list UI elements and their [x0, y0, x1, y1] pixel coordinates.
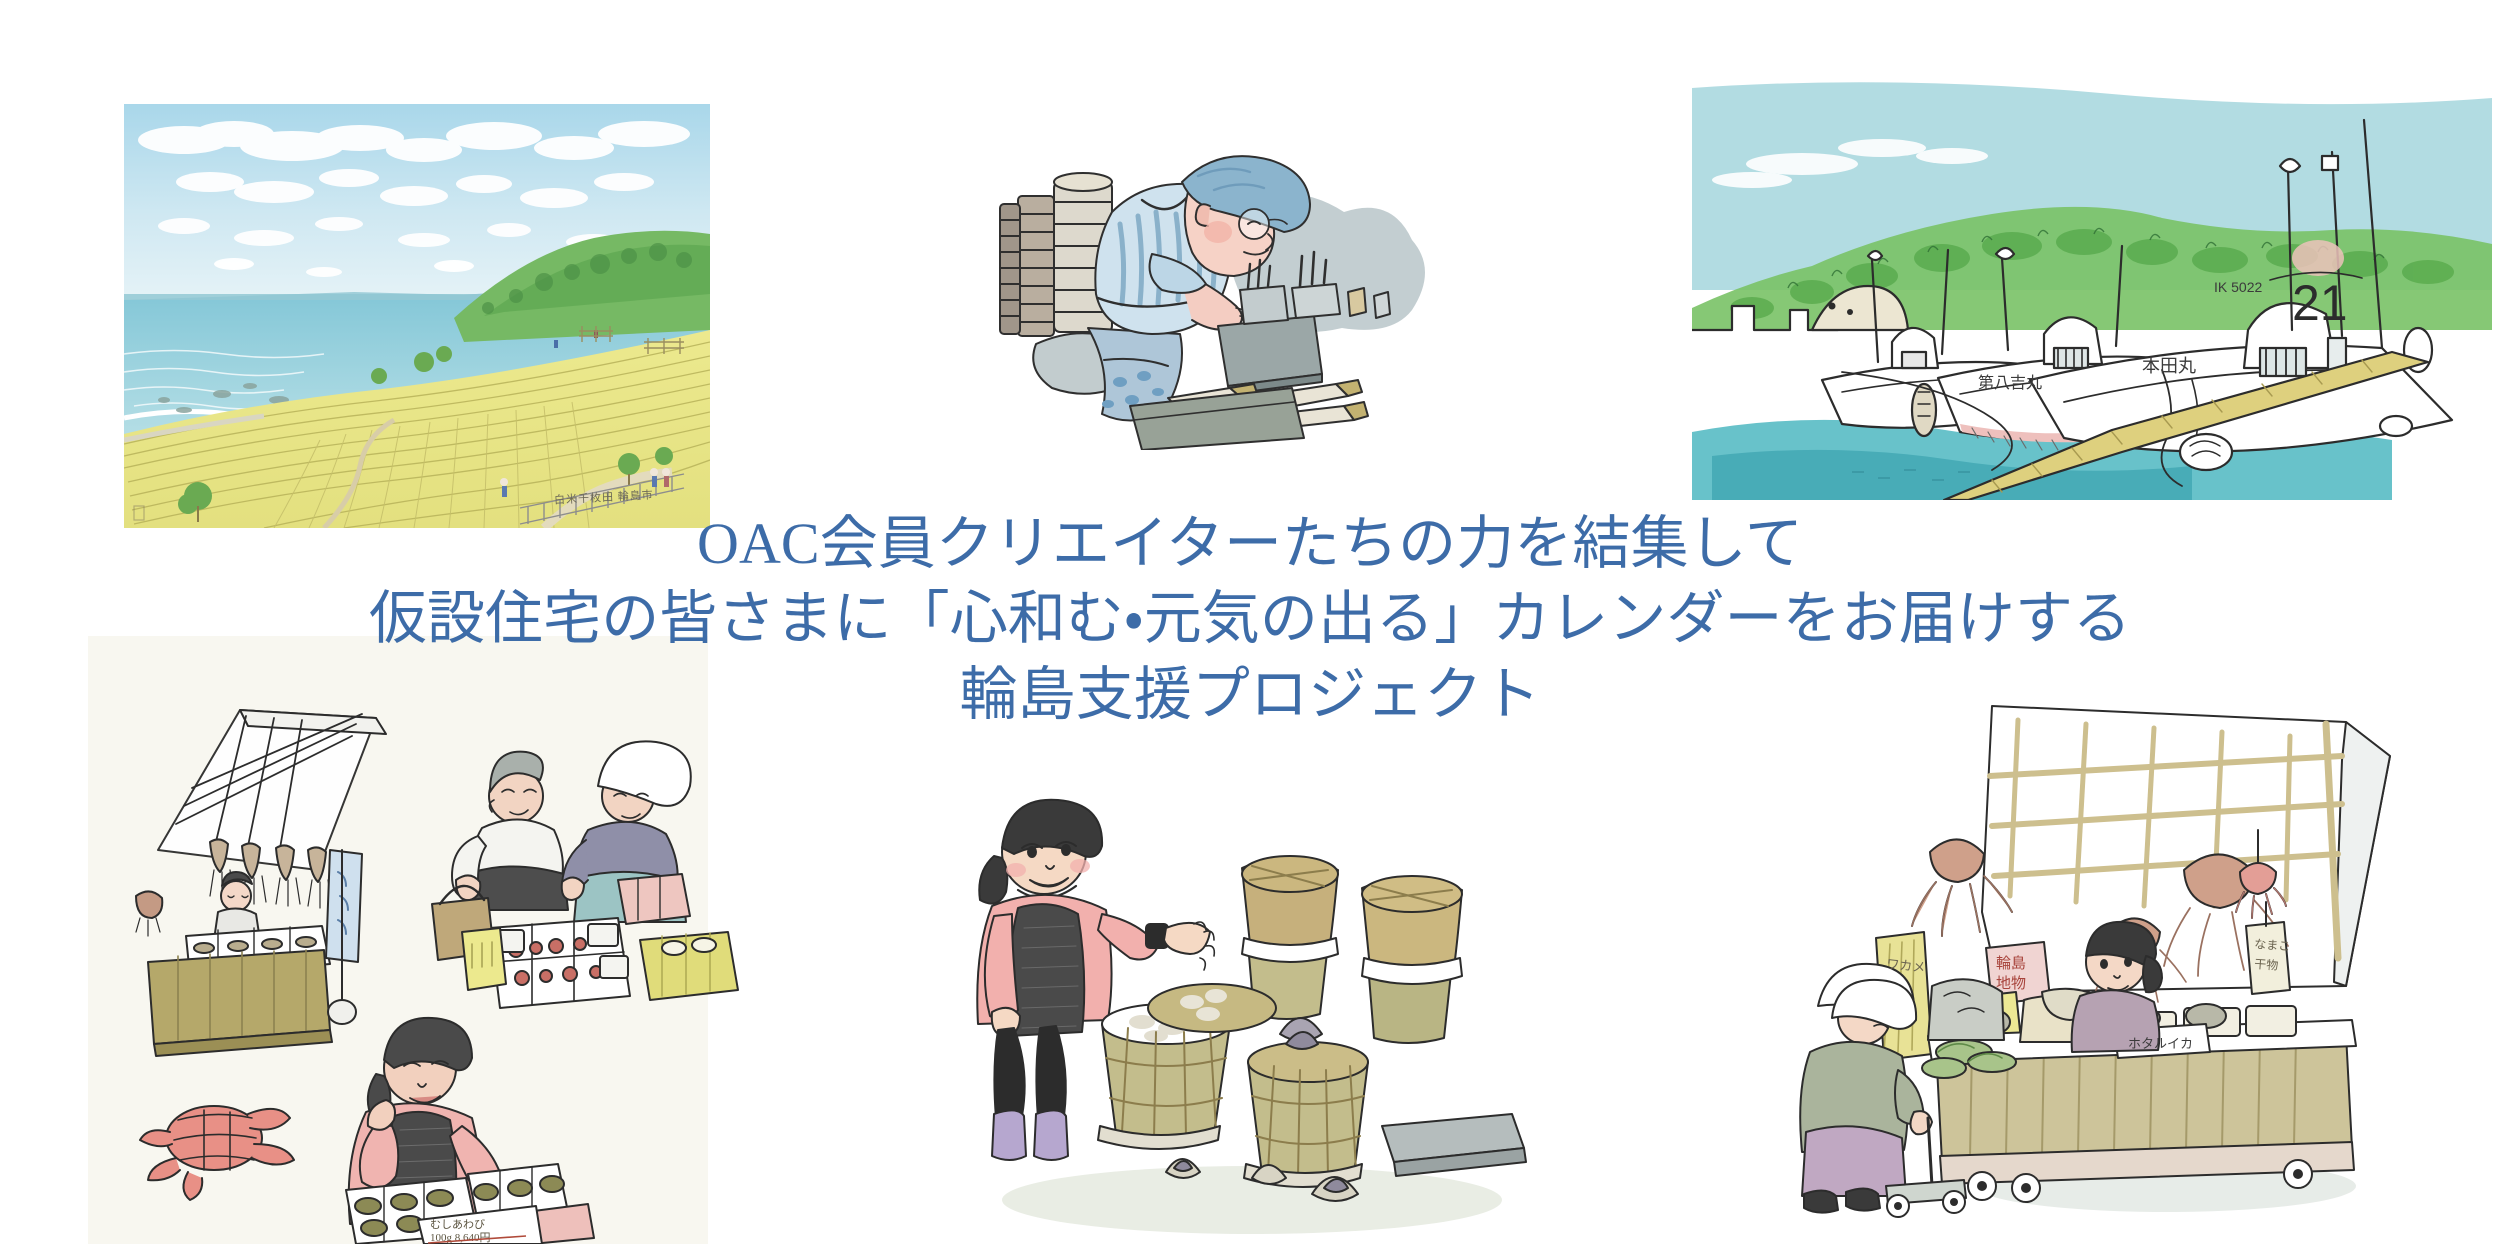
headline-line-1: OAC会員クリエイターたちの力を結集して	[0, 506, 2500, 581]
svg-text:なまこ: なまこ	[2254, 937, 2291, 953]
svg-text:21: 21	[2292, 275, 2348, 331]
svg-text:本田丸: 本田丸	[2142, 356, 2196, 376]
illustration-market-stall: 輪島 地物 ホタルイカ なまこ 干物 ワカメ	[1786, 700, 2476, 1244]
svg-text:干物: 干物	[2254, 957, 2279, 973]
headline-block: OAC会員クリエイターたちの力を結集して 仮設住宅の皆さまに「心和む・元気の出る…	[0, 506, 2500, 732]
illustration-lacquer-craftsman	[992, 120, 1462, 450]
svg-text:IK 5022: IK 5022	[2214, 279, 2262, 295]
svg-text:第八吉丸: 第八吉丸	[1978, 374, 2042, 392]
svg-text:ホタルイカ: ホタルイカ	[2128, 1036, 2193, 1051]
svg-text:輪島: 輪島	[1996, 955, 2026, 972]
illustration-rice-terraces: 白米千枚田 輪島市	[124, 104, 710, 528]
illustration-fishing-boats: 21 IK 5022 第八吉丸 本田丸	[1692, 80, 2492, 500]
svg-text:地物: 地物	[1996, 975, 2026, 992]
illustration-salt-barrels	[952, 796, 1552, 1244]
poster-canvas: 白米千枚田 輪島市	[0, 0, 2500, 1244]
headline-line-3: 輪島支援プロジェクト	[0, 657, 2500, 732]
svg-text:むしあわび: むしあわび	[430, 1218, 485, 1231]
headline-line-2: 仮設住宅の皆さまに「心和む・元気の出る」カレンダーをお届けする	[0, 581, 2500, 656]
illustration-morning-market: むしあわび 100g 8,640円	[118, 700, 758, 1244]
